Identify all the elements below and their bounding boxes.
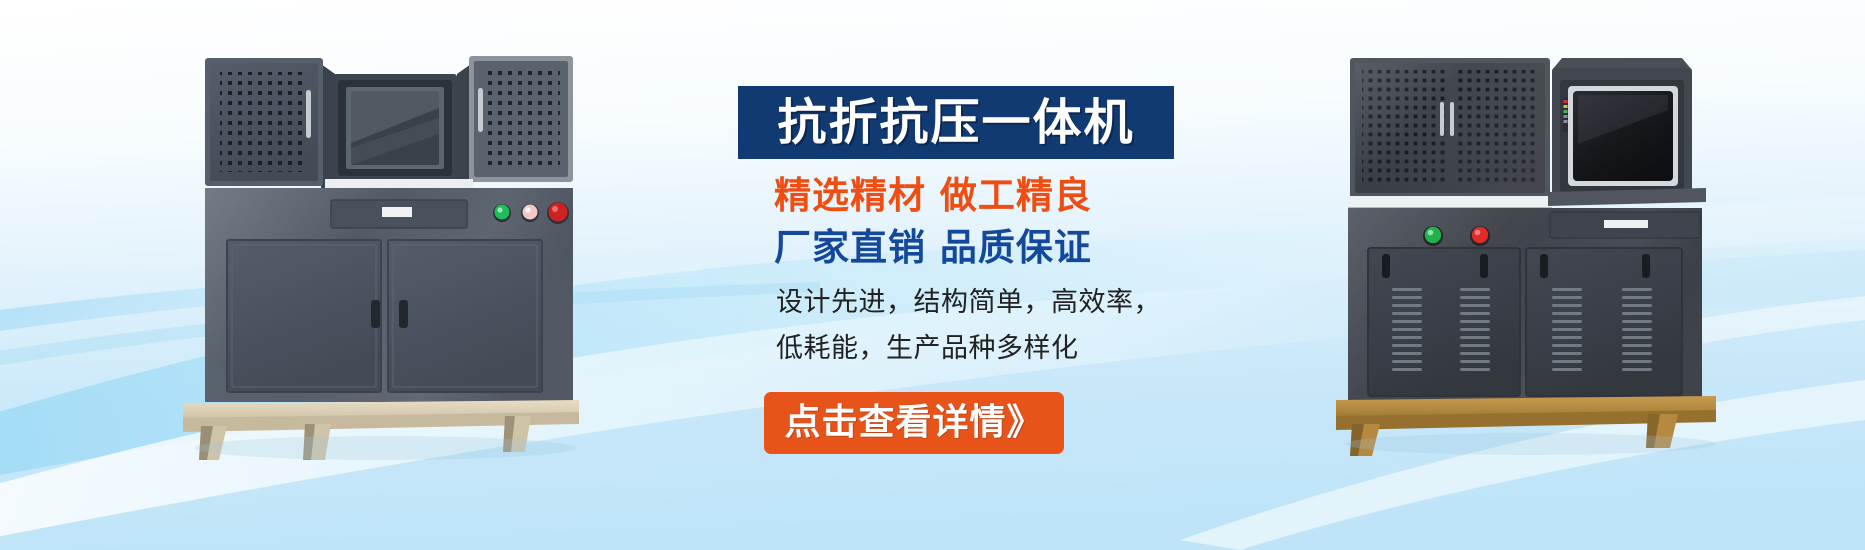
product-image-right-machine <box>1330 40 1750 460</box>
view-details-button[interactable]: 点击查看详情》 <box>764 392 1064 454</box>
body-text-line-1: 设计先进，结构简单，高效率， <box>776 288 1161 318</box>
product-image-left-machine <box>175 48 595 468</box>
view-details-label: 点击查看详情》 <box>784 405 1043 441</box>
body-text-line-2: 低耗能，生产品种多样化 <box>776 334 1079 364</box>
subhead-factory-direct: 厂家直销 品质保证 <box>774 228 1092 269</box>
promo-banner: 抗折抗压一体机 精选精材 做工精良 厂家直销 品质保证 设计先进，结构简单，高效… <box>0 0 1865 550</box>
subhead-quality: 精选精材 做工精良 <box>774 176 1092 217</box>
page-title: 抗折抗压一体机 <box>777 98 1134 147</box>
headline-bar: 抗折抗压一体机 <box>738 86 1174 159</box>
marketing-copy-block: 抗折抗压一体机 精选精材 做工精良 厂家直销 品质保证 设计先进，结构简单，高效… <box>738 70 1198 490</box>
